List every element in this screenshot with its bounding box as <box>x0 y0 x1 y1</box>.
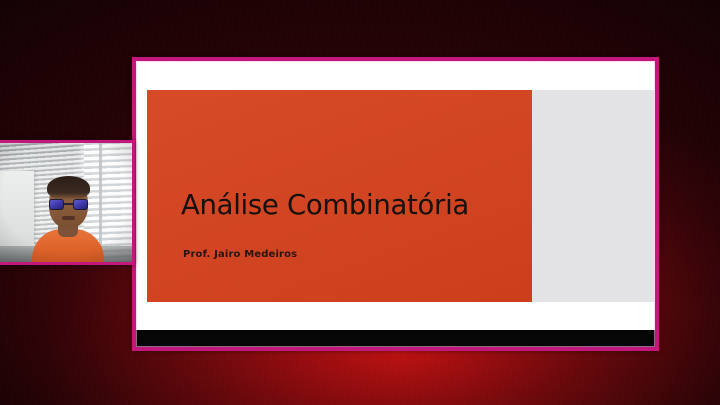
participant-video-tile[interactable] <box>0 140 135 265</box>
shared-screen-window[interactable]: Análise Combinatória Prof. Jairo Medeiro… <box>132 57 659 351</box>
glasses-lens-right <box>73 199 88 210</box>
participant-hair <box>47 176 90 200</box>
glasses-bridge <box>64 203 73 205</box>
slide-content-panel <box>532 90 654 302</box>
meeting-stage: Análise Combinatória Prof. Jairo Medeiro… <box>0 0 720 405</box>
glasses-lens-left <box>49 199 64 210</box>
slide-letterbox-bar <box>136 330 655 347</box>
slide-title: Análise Combinatória <box>181 192 469 220</box>
participant-glasses <box>49 199 88 210</box>
slide-canvas: Análise Combinatória Prof. Jairo Medeiro… <box>136 61 655 347</box>
participant-mouth <box>62 216 75 220</box>
participant-video-feed <box>0 143 132 262</box>
slide-subtitle: Prof. Jairo Medeiros <box>183 250 297 260</box>
